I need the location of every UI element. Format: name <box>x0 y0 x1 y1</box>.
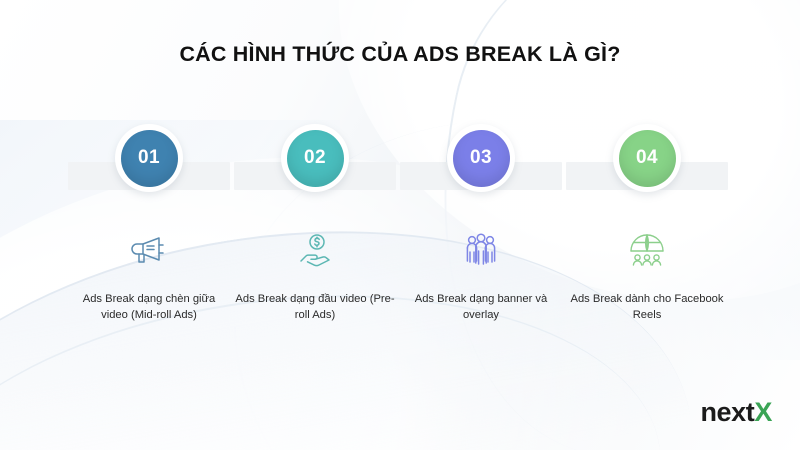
step-caption: Ads Break dạng đầu video (Pre-roll Ads) <box>234 292 396 323</box>
megaphone-icon <box>123 226 175 274</box>
step-number-circle: 04 <box>619 130 676 187</box>
step-number-badge: 02 <box>281 124 349 192</box>
globe-network-icon <box>621 226 673 274</box>
step-caption: Ads Break dạng chèn giữa video (Mid-roll… <box>68 292 230 323</box>
slide-canvas: CÁC HÌNH THỨC CỦA ADS BREAK LÀ GÌ? 01 <box>0 0 800 450</box>
step-caption: Ads Break dạng banner và overlay <box>400 292 562 323</box>
step-number-circle: 03 <box>453 130 510 187</box>
group-of-people-icon <box>455 226 507 274</box>
step-item-01: 01 Ads Break dạng chèn giữa video (Mid-r… <box>66 124 232 374</box>
page-title: CÁC HÌNH THỨC CỦA ADS BREAK LÀ GÌ? <box>0 42 800 67</box>
step-number-circle: 02 <box>287 130 344 187</box>
brand-logo: nextX <box>700 399 772 426</box>
step-item-03: 03 <box>398 124 564 374</box>
step-number-badge: 04 <box>613 124 681 192</box>
step-number-badge: 01 <box>115 124 183 192</box>
step-item-02: 02 Ads Break dạng đầu video (Pre-roll Ad… <box>232 124 398 374</box>
step-caption: Ads Break dành cho Facebook Reels <box>566 292 728 323</box>
brand-logo-accent: X <box>754 397 772 427</box>
brand-logo-primary: next <box>700 397 754 427</box>
step-number-circle: 01 <box>121 130 178 187</box>
steps-row: 01 Ads Break dạng chèn giữa video (Mid-r… <box>0 124 800 374</box>
hand-holding-coin-icon <box>289 226 341 274</box>
step-number-badge: 03 <box>447 124 515 192</box>
step-item-04: 04 Ads Break dành cho F <box>564 124 730 374</box>
